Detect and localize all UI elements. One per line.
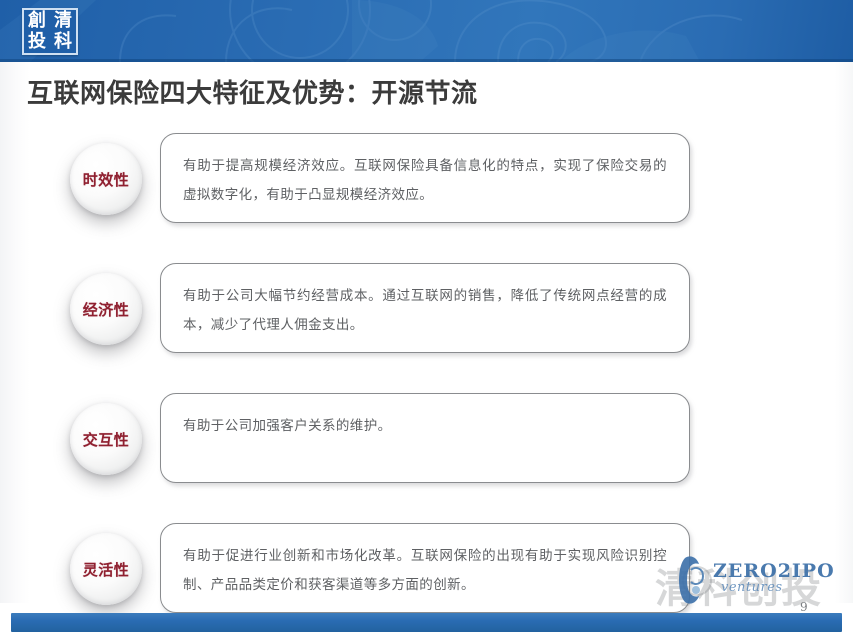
logo-char-1: 創 xyxy=(28,12,46,30)
feature-badge-label: 经济性 xyxy=(83,299,130,320)
feature-body-text: 有助于提高规模经济效应。互联网保险具备信息化的特点，实现了保险交易的虚拟数字化，… xyxy=(183,152,667,210)
feature-body-text: 有助于公司大幅节约经营成本。通过互联网的销售，降低了传统网点经营的成本，减少了代… xyxy=(183,282,667,340)
feature-list: 时效性 有助于提高规模经济效应。互联网保险具备信息化的特点，实现了保险交易的虚拟… xyxy=(0,125,853,640)
feature-row: 交互性 有助于公司加强客户关系的维护。 xyxy=(0,385,853,515)
feature-badge-label: 灵活性 xyxy=(83,559,130,580)
feature-badge-1[interactable]: 时效性 xyxy=(70,143,142,215)
slide-canvas: 創 清 投 科 互联网保险四大特征及优势：开源节流 时效性 有助于提高规模经济效… xyxy=(0,0,853,640)
banner-bottom-edge xyxy=(0,59,853,62)
banner-swirl-decoration xyxy=(0,0,853,62)
feature-textbox-3[interactable]: 有助于公司加强客户关系的维护。 xyxy=(160,393,690,483)
top-banner: 創 清 投 科 xyxy=(0,0,853,62)
company-logo[interactable]: 創 清 投 科 xyxy=(22,8,78,55)
logo-char-4: 科 xyxy=(54,33,72,51)
feature-textbox-1[interactable]: 有助于提高规模经济效应。互联网保险具备信息化的特点，实现了保险交易的虚拟数字化，… xyxy=(160,133,690,223)
feature-badge-label: 交互性 xyxy=(83,429,130,450)
bottom-banner xyxy=(11,613,842,632)
feature-body-text: 有助于公司加强客户关系的维护。 xyxy=(183,412,667,441)
page-title: 互联网保险四大特征及优势：开源节流 xyxy=(27,78,478,111)
feature-body-text: 有助于促进行业创新和市场化改革。互联网保险的出现有助于实现风险识别控制、产品品类… xyxy=(183,542,667,600)
feature-textbox-2[interactable]: 有助于公司大幅节约经营成本。通过互联网的销售，降低了传统网点经营的成本，减少了代… xyxy=(160,263,690,353)
feature-row: 经济性 有助于公司大幅节约经营成本。通过互联网的销售，降低了传统网点经营的成本，… xyxy=(0,255,853,385)
feature-badge-4[interactable]: 灵活性 xyxy=(70,533,142,605)
logo-char-2: 清 xyxy=(54,12,72,30)
page-number: 9 xyxy=(800,600,808,614)
feature-row: 时效性 有助于提高规模经济效应。互联网保险具备信息化的特点，实现了保险交易的虚拟… xyxy=(0,125,853,255)
feature-badge-3[interactable]: 交互性 xyxy=(70,403,142,475)
feature-badge-2[interactable]: 经济性 xyxy=(70,273,142,345)
feature-textbox-4[interactable]: 有助于促进行业创新和市场化改革。互联网保险的出现有助于实现风险识别控制、产品品类… xyxy=(160,523,690,613)
logo-char-3: 投 xyxy=(28,33,46,51)
feature-badge-label: 时效性 xyxy=(83,169,130,190)
